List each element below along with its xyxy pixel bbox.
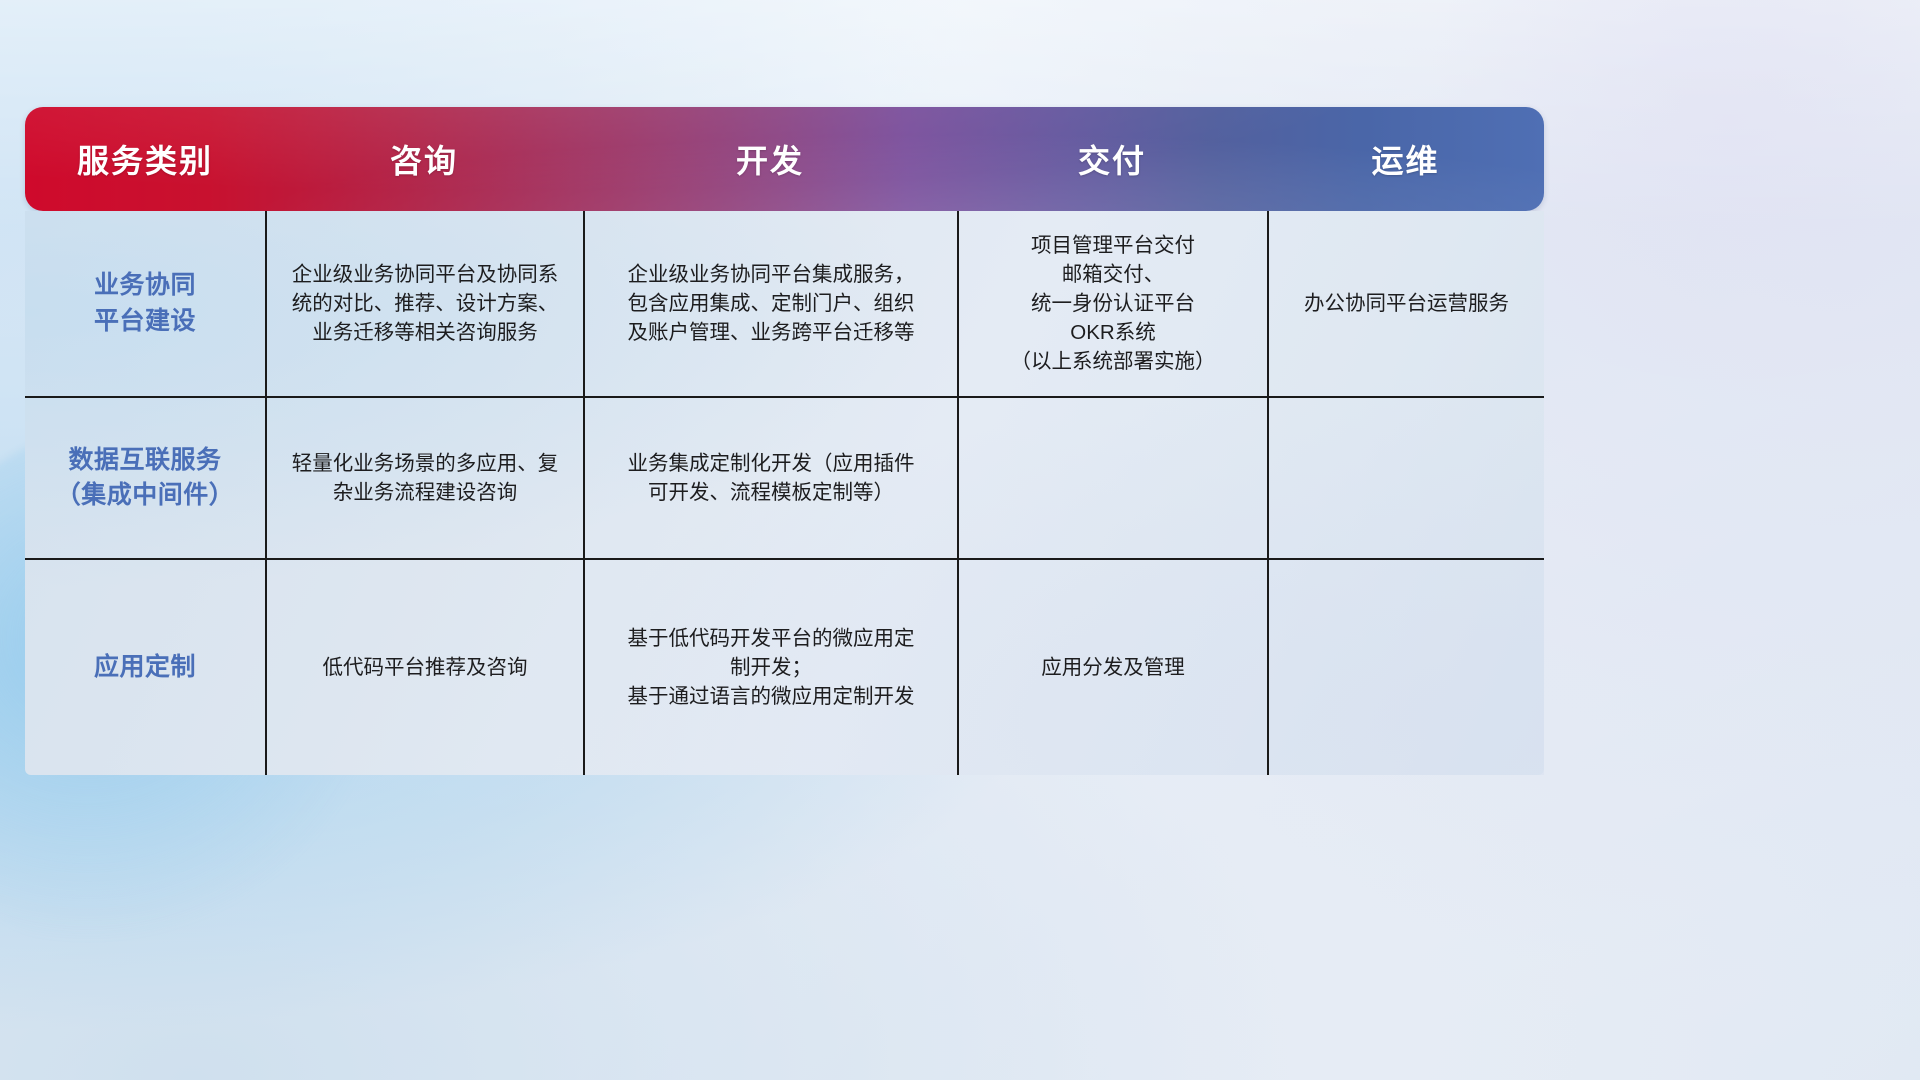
cell-delivery: 应用分发及管理 [957, 560, 1267, 775]
row-category-label: 应用定制 [25, 560, 265, 775]
column-header-operations: 运维 [1267, 136, 1544, 182]
column-header-consulting: 咨询 [265, 136, 583, 182]
table-row: 数据互联服务 （集成中间件） 轻量化业务场景的多应用、复 杂业务流程建设咨询 业… [25, 396, 1544, 558]
cell-delivery [957, 398, 1267, 558]
cell-development: 业务集成定制化开发（应用插件 可开发、流程模板定制等） [583, 398, 957, 558]
row-category-label: 业务协同 平台建设 [25, 211, 265, 396]
cell-operations [1267, 398, 1544, 558]
table-row: 应用定制 低代码平台推荐及咨询 基于低代码开发平台的微应用定 制开发； 基于通过… [25, 558, 1544, 775]
cell-operations [1267, 560, 1544, 775]
column-header-category: 服务类别 [25, 136, 265, 182]
table-body: 业务协同 平台建设 企业级业务协同平台及协同系 统的对比、推荐、设计方案、 业务… [25, 211, 1544, 775]
column-header-delivery: 交付 [957, 136, 1267, 182]
cell-delivery: 项目管理平台交付 邮箱交付、 统一身份认证平台 OKR系统 （以上系统部署实施） [957, 211, 1267, 396]
service-matrix-table: 服务类别 咨询 开发 交付 运维 业务协同 平台建设 企业级业务协同平台及协同系… [25, 107, 1544, 772]
column-header-development: 开发 [583, 136, 957, 182]
cell-consulting: 低代码平台推荐及咨询 [265, 560, 583, 775]
cell-development: 基于低代码开发平台的微应用定 制开发； 基于通过语言的微应用定制开发 [583, 560, 957, 775]
cell-development: 企业级业务协同平台集成服务， 包含应用集成、定制门户、组织 及账户管理、业务跨平… [583, 211, 957, 396]
cell-operations: 办公协同平台运营服务 [1267, 211, 1544, 396]
cell-consulting: 轻量化业务场景的多应用、复 杂业务流程建设咨询 [265, 398, 583, 558]
row-category-label: 数据互联服务 （集成中间件） [25, 398, 265, 558]
table-header-row: 服务类别 咨询 开发 交付 运维 [25, 107, 1544, 211]
cell-consulting: 企业级业务协同平台及协同系 统的对比、推荐、设计方案、 业务迁移等相关咨询服务 [265, 211, 583, 396]
table-row: 业务协同 平台建设 企业级业务协同平台及协同系 统的对比、推荐、设计方案、 业务… [25, 211, 1544, 396]
